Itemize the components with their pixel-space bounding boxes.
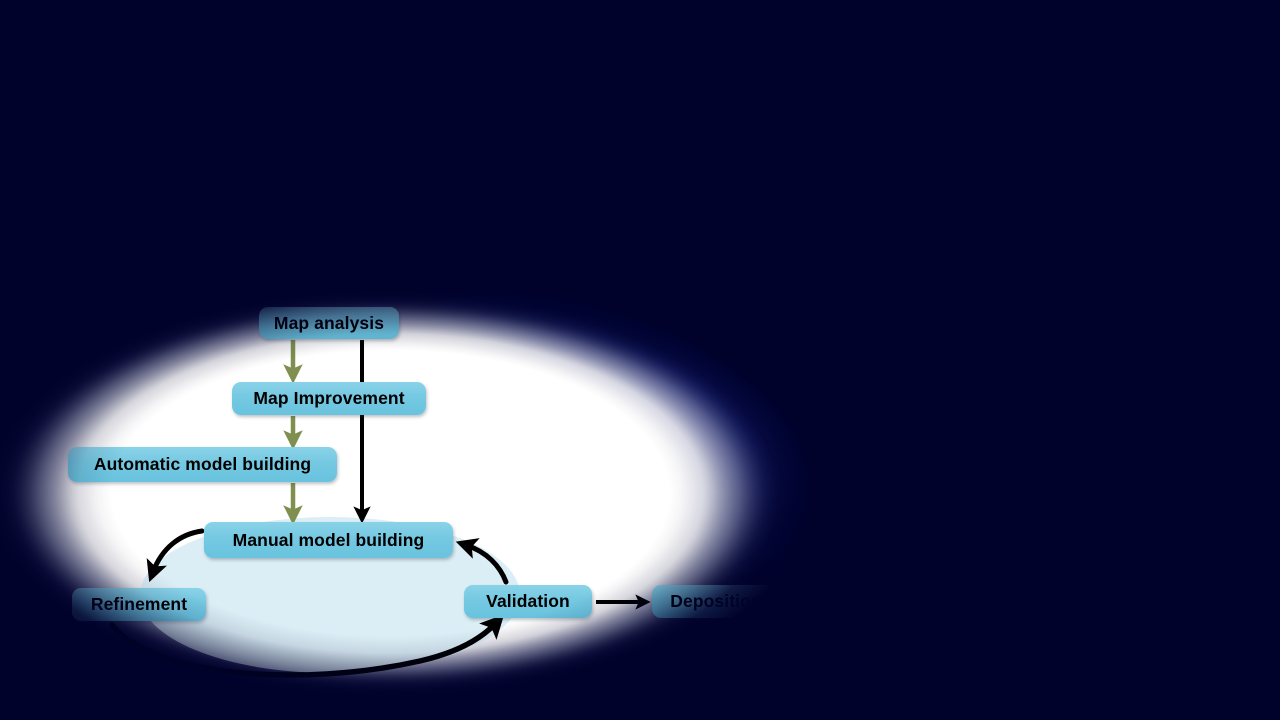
slide: Tutorial Tutorial Cryo-EM tools: [0, 0, 1280, 720]
node-manual-model-building-label: Manual model building: [233, 530, 425, 551]
node-manual-model-building[interactable]: Manual model building: [204, 522, 453, 558]
node-validation-label: Validation: [486, 591, 570, 612]
node-refinement[interactable]: Refinement: [72, 588, 206, 621]
node-automatic-model-building[interactable]: Automatic model building: [68, 447, 337, 482]
node-deposition-label: Deposition: [670, 591, 761, 612]
node-deposition[interactable]: Deposition: [652, 585, 780, 618]
node-map-analysis[interactable]: Map analysis: [259, 307, 399, 339]
node-validation[interactable]: Validation: [464, 585, 592, 618]
node-automatic-model-building-label: Automatic model building: [94, 454, 311, 475]
node-map-analysis-label: Map analysis: [274, 313, 384, 334]
cryoem-workflow-flowchart: Map analysis Map Improvement Automatic m…: [0, 0, 1280, 720]
node-map-improvement[interactable]: Map Improvement: [232, 382, 426, 415]
node-map-improvement-label: Map Improvement: [253, 388, 404, 409]
node-refinement-label: Refinement: [91, 594, 187, 615]
